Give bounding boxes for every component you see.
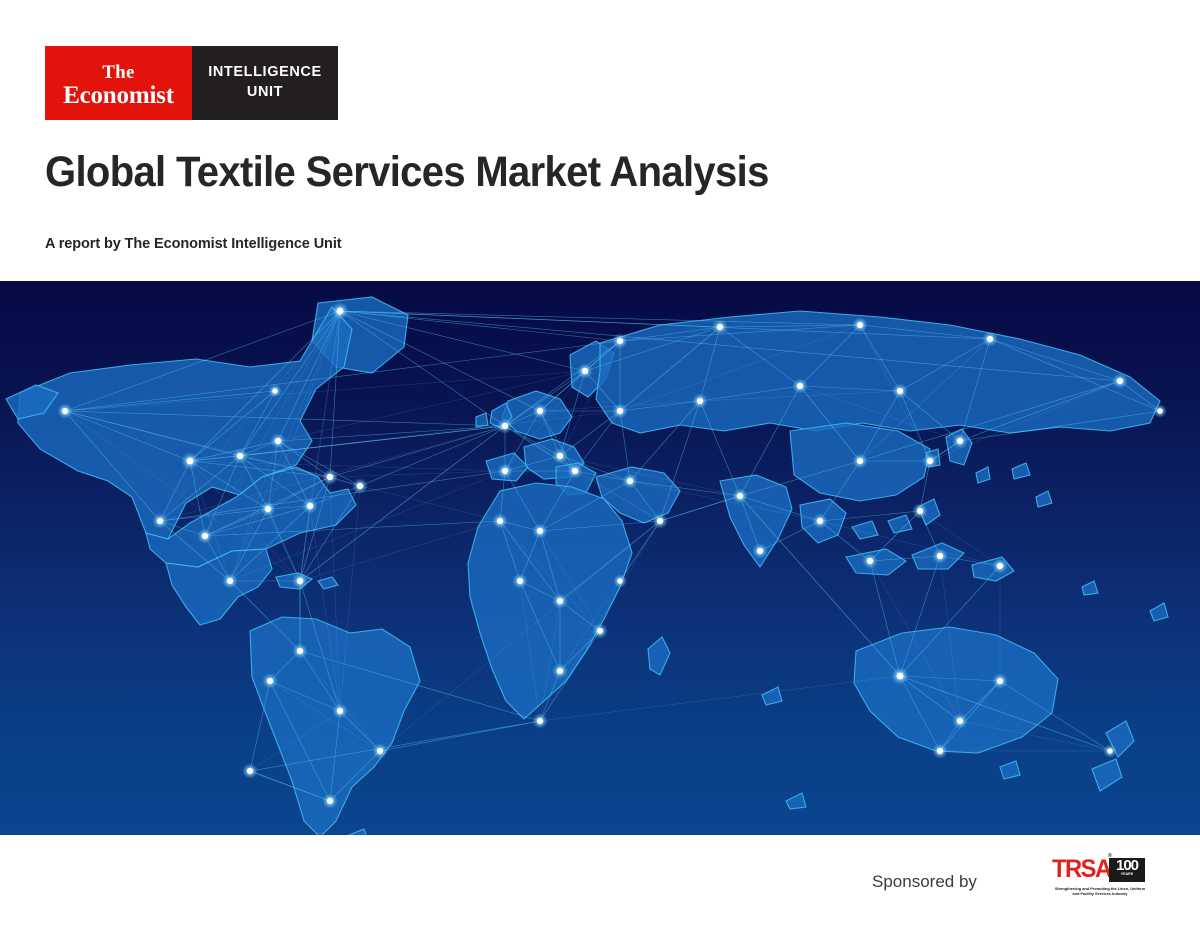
trsa-sponsor-logo[interactable]: TRSA ® 100 YEARS Strengthening and Promo… [1052, 857, 1148, 905]
sponsored-by-label: Sponsored by [872, 872, 977, 892]
economist-intelligence-unit-logo: The Economist INTELLIGENCE UNIT [45, 46, 338, 120]
trsa-wordmark: TRSA [1052, 858, 1111, 882]
world-map-network-svg [0, 281, 1200, 835]
economist-logo-red-block: The Economist [45, 46, 192, 120]
cover-header: The Economist INTELLIGENCE UNIT Global T… [0, 0, 1200, 281]
cover-footer [0, 835, 1200, 936]
trsa-tagline: Strengthening and Promoting the Linen, U… [1052, 886, 1148, 897]
trsa-tagline-line-2: and Facility Services Industry [1052, 891, 1148, 896]
trsa-100-years-badge: 100 YEARS [1109, 858, 1145, 882]
economist-logo-economist: Economist [63, 83, 174, 108]
intelligence-unit-line-1: INTELLIGENCE [208, 63, 322, 83]
report-cover-page: The Economist INTELLIGENCE UNIT Global T… [0, 0, 1200, 936]
trsa-badge-years: YEARS [1109, 872, 1145, 877]
economist-wordmark: The Economist [63, 59, 174, 108]
economist-logo-the: The [63, 63, 174, 82]
trsa-logo-main: TRSA ® 100 YEARS [1052, 857, 1148, 882]
intelligence-unit-black-block: INTELLIGENCE UNIT [192, 46, 338, 120]
page-subtitle: A report by The Economist Intelligence U… [45, 236, 341, 252]
page-title: Global Textile Services Market Analysis [45, 148, 769, 197]
cover-world-map-network-image [0, 281, 1200, 835]
intelligence-unit-line-2: UNIT [208, 83, 322, 103]
intelligence-unit-wordmark: INTELLIGENCE UNIT [208, 63, 322, 102]
trsa-badge-number: 100 [1109, 859, 1145, 872]
